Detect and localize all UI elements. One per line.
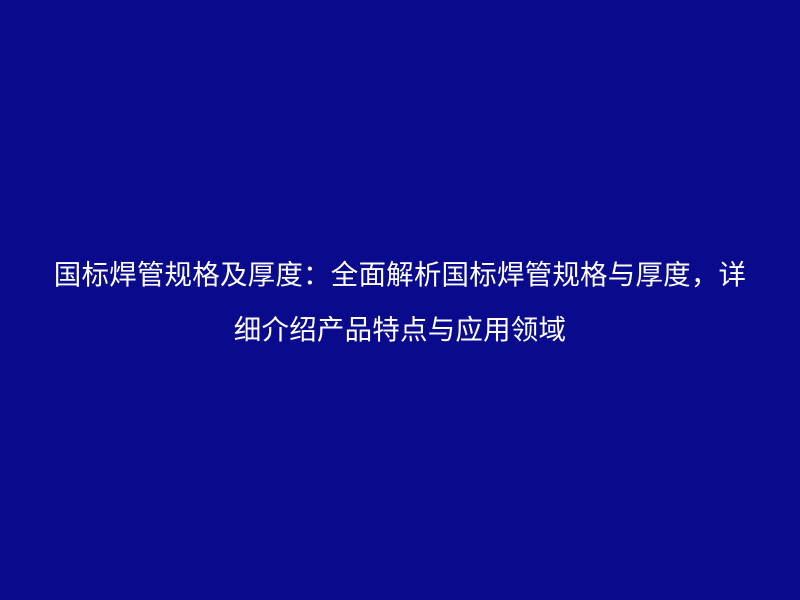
page-title: 国标焊管规格及厚度：全面解析国标焊管规格与厚度，详细介绍产品特点与应用领域 [46, 248, 754, 358]
title-block: 国标焊管规格及厚度：全面解析国标焊管规格与厚度，详细介绍产品特点与应用领域 [0, 248, 800, 358]
title-slide: 国标焊管规格及厚度：全面解析国标焊管规格与厚度，详细介绍产品特点与应用领域 [0, 0, 800, 600]
